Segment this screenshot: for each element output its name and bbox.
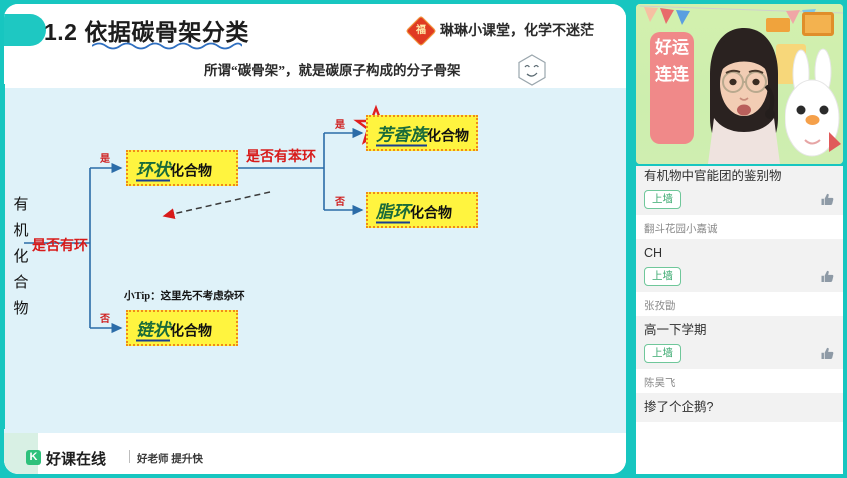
- luck-overlay-badge: 好运连连: [650, 32, 694, 144]
- edge-label-no-1: 否: [100, 310, 110, 325]
- app-root: 1.2 依据碳骨架分类 福 琳琳小课堂，化学不迷茫 所谓“碳骨架”，就是碳原子构…: [0, 0, 847, 478]
- teacher-avatar: [696, 22, 792, 164]
- chat-username: 陈昊飞: [636, 369, 843, 393]
- edge-label-yes-1: 是: [100, 150, 110, 165]
- thumbs-up-icon[interactable]: [820, 346, 835, 361]
- diagram-root-label: 有机化合物: [8, 192, 34, 322]
- node-cyclic-compound[interactable]: 环状化合物: [126, 150, 238, 186]
- chat-bubble: 掺了个企鹅?: [636, 393, 843, 422]
- left-teal-strip: [0, 84, 5, 429]
- chat-text: 高一下学期: [644, 321, 835, 339]
- diagram-connectors: [4, 88, 626, 433]
- node-handwriting-2: 芳香族: [376, 126, 427, 147]
- root-question-label: 是否有环: [32, 235, 88, 255]
- node-tail-2: 化合物: [427, 128, 469, 144]
- chat-actions: 上墙: [644, 344, 835, 363]
- node-aromatic-compound[interactable]: 芳香族化合物: [366, 115, 478, 151]
- slide-header: 1.2 依据碳骨架分类 福 琳琳小课堂，化学不迷茫 所谓“碳骨架”，就是碳原子构…: [4, 4, 626, 88]
- chat-bubble: CH 上墙: [636, 239, 843, 292]
- footer-brand: 好课在线: [46, 448, 106, 469]
- node-tail-1: 化合物: [170, 323, 212, 339]
- node-handwriting-1: 链状: [136, 321, 170, 342]
- luck-overlay-text: 好运连连: [650, 34, 694, 88]
- node-tail-0: 化合物: [170, 163, 212, 179]
- node-alicyclic-compound[interactable]: 脂环化合物: [366, 192, 478, 228]
- second-question-label: 是否有苯环: [246, 146, 316, 166]
- brand-slogan: 琳琳小课堂，化学不迷茫: [440, 20, 594, 40]
- brand-logo-icon: K: [26, 450, 41, 465]
- node-chain-compound[interactable]: 链状化合物: [126, 310, 238, 346]
- chat-bubble: 高一下学期 上墙: [636, 316, 843, 369]
- chat-list[interactable]: 有机物中官能团的鉴别物 上墙 翻斗花园小嘉诚 CH 上墙: [636, 166, 843, 474]
- diagram-canvas: 有机化合物 是否有环 是 否 是否有苯环 是 否 环状化合物: [4, 88, 626, 433]
- title-underline-wave: [92, 41, 242, 50]
- bunny-icon: [785, 48, 841, 164]
- node-tail-3: 化合物: [410, 205, 452, 221]
- pin-to-wall-button[interactable]: 上墙: [644, 267, 681, 286]
- chat-text: 掺了个企鹅?: [644, 398, 835, 416]
- node-handwriting-3: 脂环: [376, 203, 410, 224]
- chat-actions: 上墙: [644, 190, 835, 209]
- fu-badge-char: 福: [410, 20, 432, 42]
- slide-stage: 1.2 依据碳骨架分类 福 琳琳小课堂，化学不迷茫 所谓“碳骨架”，就是碳原子构…: [0, 0, 630, 478]
- thumbs-up-icon[interactable]: [820, 192, 835, 207]
- lesson-slide: 1.2 依据碳骨架分类 福 琳琳小课堂，化学不迷茫 所谓“碳骨架”，就是碳原子构…: [4, 4, 626, 474]
- diagram-tip-text: 小Tip：这里先不考虑杂环: [124, 288, 245, 303]
- pin-to-wall-button[interactable]: 上墙: [644, 190, 681, 209]
- chat-text: CH: [644, 244, 835, 262]
- hexagon-smiley-icon: [517, 54, 547, 86]
- chat-bubble: 有机物中官能团的鉴别物 上墙: [636, 166, 843, 215]
- fu-badge-icon: 福: [405, 15, 436, 46]
- title-accent-shape: [4, 14, 46, 46]
- chat-actions: 上墙: [644, 267, 835, 286]
- classification-diagram: 有机化合物 是否有环 是 否 是否有苯环 是 否 环状化合物: [4, 88, 626, 433]
- edge-label-yes-2: 是: [335, 116, 345, 131]
- chat-message: 翻斗花园小嘉诚 CH 上墙: [636, 215, 843, 292]
- node-handwriting-0: 环状: [136, 161, 170, 182]
- chat-username: 翻斗花园小嘉诚: [636, 215, 843, 239]
- chat-message: 陈昊飞 掺了个企鹅?: [636, 369, 843, 422]
- chat-message: 有机物中官能团的鉴别物 上墙: [636, 166, 843, 215]
- footer-tagline: 好老师 提升快: [137, 451, 203, 466]
- chat-message: 张孜勖 高一下学期 上墙: [636, 292, 843, 369]
- right-panel: 好运连连: [630, 0, 847, 478]
- chat-username: 张孜勖: [636, 292, 843, 316]
- teacher-video[interactable]: 好运连连: [636, 4, 843, 164]
- footer-divider: [129, 450, 130, 463]
- thumbs-up-icon[interactable]: [820, 269, 835, 284]
- edge-label-no-2: 否: [335, 193, 345, 208]
- slide-subtitle: 所谓“碳骨架”，就是碳原子构成的分子骨架: [204, 59, 461, 79]
- pin-to-wall-button[interactable]: 上墙: [644, 344, 681, 363]
- picture-frame-icon-2: [802, 12, 834, 36]
- chat-text: 有机物中官能团的鉴别物: [644, 167, 835, 185]
